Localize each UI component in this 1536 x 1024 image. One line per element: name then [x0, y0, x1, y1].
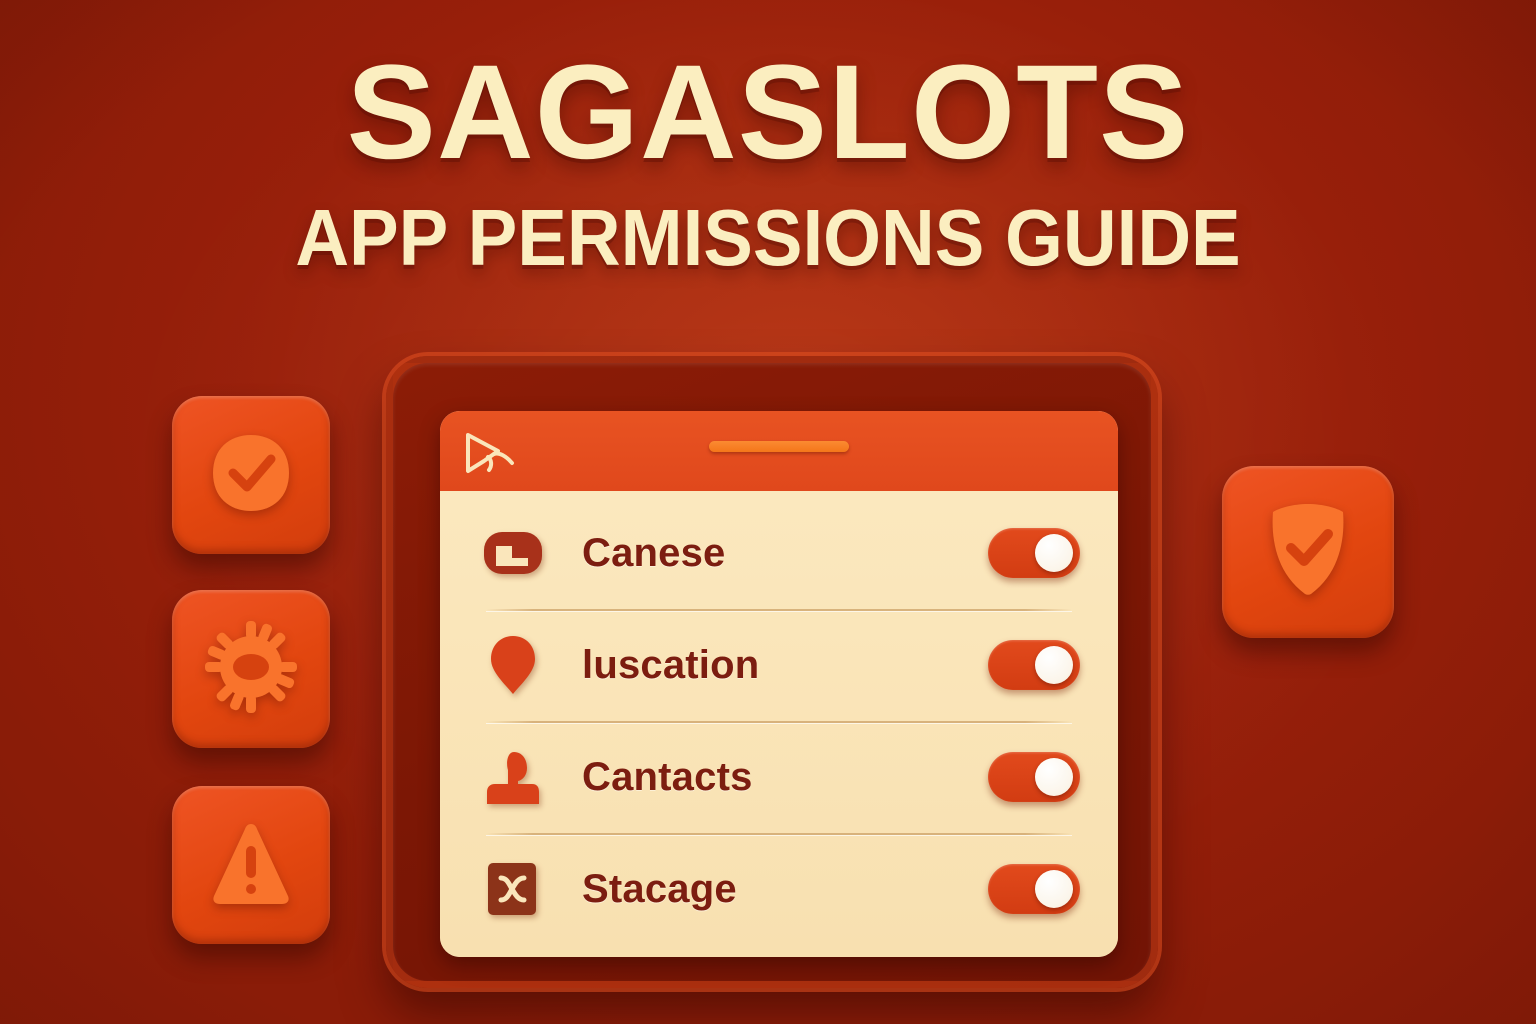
permission-list: Canese luscation: [440, 491, 1118, 957]
permission-row[interactable]: Cantacts: [440, 721, 1118, 833]
app-bar: [440, 411, 1118, 491]
page-subtitle: APP PERMISSIONS GUIDE: [54, 198, 1482, 278]
warning-triangle-icon: [204, 816, 298, 915]
megaphone-icon[interactable]: [462, 427, 520, 479]
permission-label: Canese: [582, 531, 988, 576]
approved-tile[interactable]: [172, 396, 330, 554]
check-circle-icon: [205, 427, 297, 524]
tablet-screen: Canese luscation: [440, 411, 1118, 957]
permission-row[interactable]: Stacage: [440, 833, 1118, 945]
toggle-knob: [1035, 646, 1073, 684]
permission-label: Stacage: [582, 867, 988, 912]
poster-canvas: SAGASLOTS APP PERMISSIONS GUIDE: [0, 0, 1536, 1024]
progress-pill[interactable]: [709, 441, 849, 452]
permission-label: luscation: [582, 643, 988, 688]
permission-toggle[interactable]: [988, 752, 1080, 802]
storage-icon: [482, 858, 544, 920]
warning-tile[interactable]: [172, 786, 330, 944]
permission-toggle[interactable]: [988, 640, 1080, 690]
permission-label: Cantacts: [582, 755, 988, 800]
tablet-device: Canese luscation: [386, 356, 1158, 988]
page-title: SAGASLOTS: [0, 46, 1536, 180]
settings-tile[interactable]: [172, 590, 330, 748]
security-tile[interactable]: [1222, 466, 1394, 638]
permission-toggle[interactable]: [988, 864, 1080, 914]
camera-icon: [482, 522, 544, 584]
toggle-knob: [1035, 870, 1073, 908]
location-pin-icon: [482, 634, 544, 696]
heading-block: SAGASLOTS APP PERMISSIONS GUIDE: [0, 46, 1536, 278]
permission-toggle[interactable]: [988, 528, 1080, 578]
permission-row[interactable]: Canese: [440, 497, 1118, 609]
gear-icon: [203, 619, 299, 720]
shield-check-icon: [1259, 498, 1357, 607]
permission-row[interactable]: luscation: [440, 609, 1118, 721]
toggle-knob: [1035, 758, 1073, 796]
toggle-knob: [1035, 534, 1073, 572]
contacts-person-icon: [482, 746, 544, 808]
